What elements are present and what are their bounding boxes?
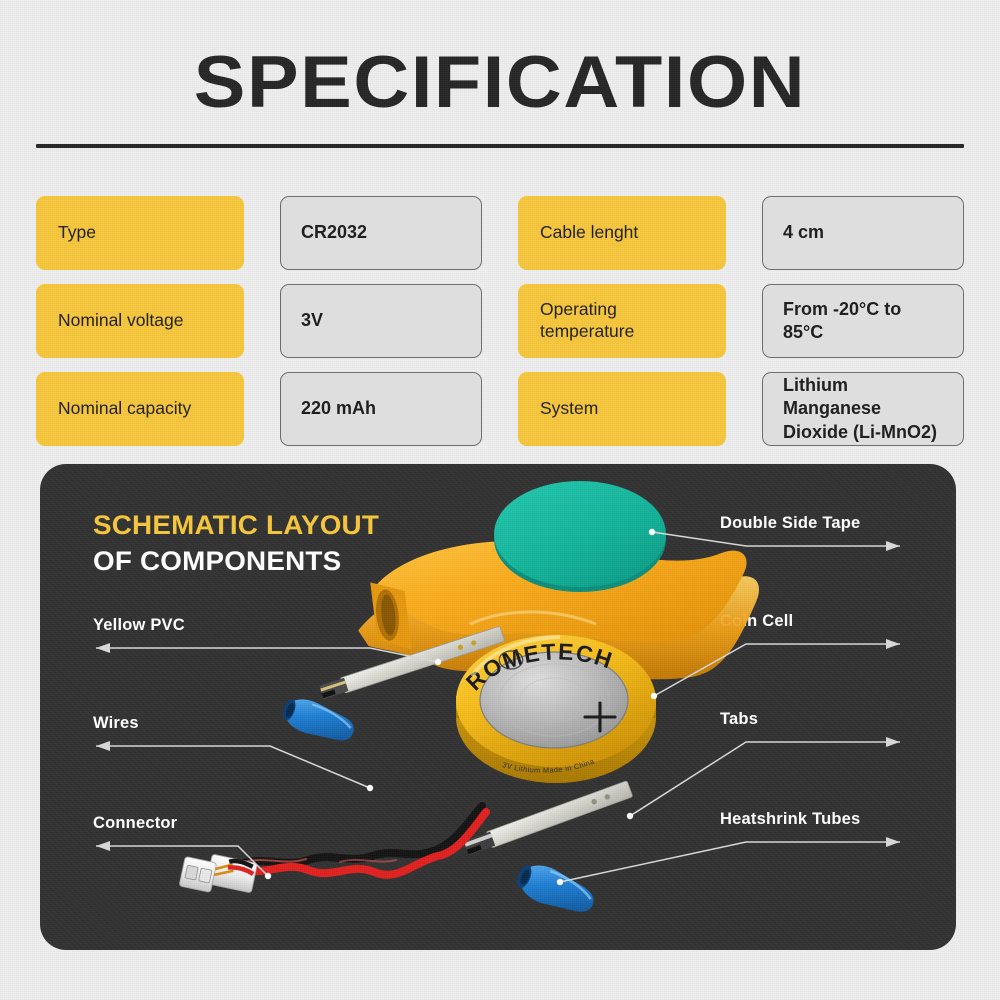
spec-key-cable-lenght: Cable lenght [518, 196, 726, 270]
title-divider [36, 144, 964, 148]
heatshrink-tube-upper-art [278, 693, 358, 748]
page-title: SPECIFICATION [0, 46, 1000, 119]
spec-value-cable-lenght: 4 cm [762, 196, 964, 270]
wires-art [240, 806, 486, 875]
connector-art [179, 849, 257, 901]
spec-row: Cable lenght 4 cm [518, 196, 964, 270]
spec-row: Type CR2032 [36, 196, 482, 270]
spec-row: Operating temperature From -20°C to 85°C [518, 284, 964, 358]
spec-row: Nominal capacity 220 mAh [36, 372, 482, 446]
page-header: SPECIFICATION [0, 0, 1000, 160]
svg-text:Li: Li [507, 657, 514, 666]
schematic-layout-panel: SCHEMATIC LAYOUT OF COMPONENTS [40, 464, 956, 950]
spec-value-nominal-capacity: 220 mAh [280, 372, 482, 446]
spec-row: Nominal voltage 3V [36, 284, 482, 358]
coin-cell-art: ROMETECH 3V Lithium Made in China Li [456, 635, 656, 783]
heatshrink-tube-lower-art [512, 858, 600, 922]
exploded-view-illustration: ROMETECH 3V Lithium Made in China Li [40, 464, 956, 950]
tab-lower-art [463, 781, 632, 856]
spec-value-type: CR2032 [280, 196, 482, 270]
spec-key-nominal-voltage: Nominal voltage [36, 284, 244, 358]
spec-value-operating-temperature: From -20°C to 85°C [762, 284, 964, 358]
specification-table: Type CR2032 Cable lenght 4 cm Nominal vo… [36, 196, 964, 446]
spec-key-system: System [518, 372, 726, 446]
double-side-tape-art [494, 481, 666, 592]
spec-value-nominal-voltage: 3V [280, 284, 482, 358]
spec-row: System Lithium Manganese Dioxide (Li-MnO… [518, 372, 964, 446]
spec-key-type: Type [36, 196, 244, 270]
spec-value-system: Lithium Manganese Dioxide (Li-MnO2) [762, 372, 964, 446]
spec-key-operating-temperature: Operating temperature [518, 284, 726, 358]
spec-key-nominal-capacity: Nominal capacity [36, 372, 244, 446]
